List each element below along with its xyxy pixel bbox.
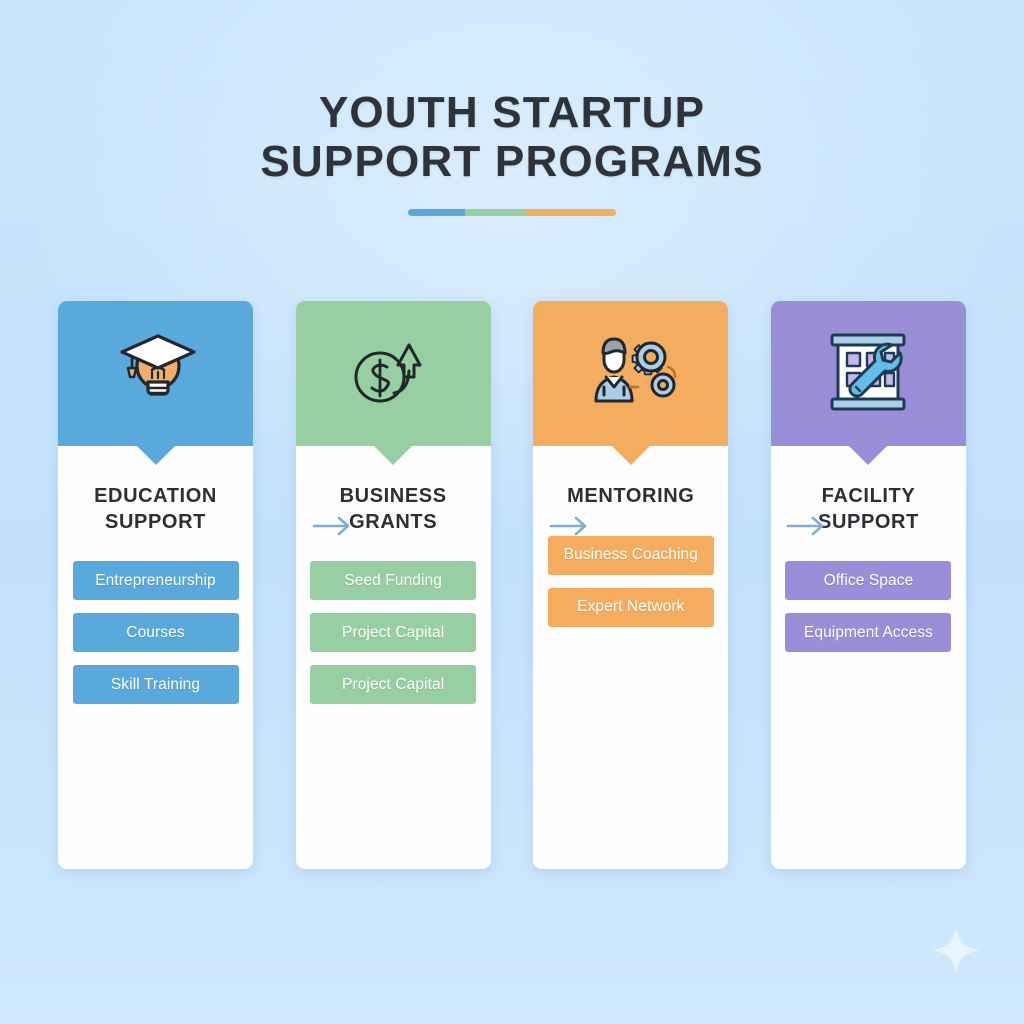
card-header-education-support [58,301,253,446]
program-card-mentoring[interactable]: MENTORING Business Coaching Expert Netwo… [533,301,728,869]
tag-skill-training[interactable]: Skill Training [73,665,239,704]
program-card-business-grants[interactable]: BUSINESS GRANTS Seed Funding Project Cap… [296,301,491,869]
building-wrench-icon [822,327,914,420]
card-wrapper-education-support: EDUCATION SUPPORT Entrepreneurship Cours… [58,301,253,869]
accent-segment-green [465,209,525,216]
connector-arrow-1 [312,513,354,539]
card-tags-mentoring: Business Coaching Expert Network [547,536,714,627]
program-card-education-support[interactable]: EDUCATION SUPPORT Entrepreneurship Cours… [58,301,253,869]
card-body-facility-support: FACILITY SUPPORT Office Space Equipment … [771,446,966,652]
accent-segment-blue [408,209,465,216]
connector-arrow-2 [549,513,591,539]
tag-business-coaching[interactable]: Business Coaching [548,536,714,575]
title-line-1: YOUTH STARTUP [0,88,1024,137]
card-title-mentoring: MENTORING [547,484,714,510]
card-header-mentoring [533,301,728,446]
card-body-business-grants: BUSINESS GRANTS Seed Funding Project Cap… [296,446,491,704]
person-gears-icon [582,331,680,416]
sparkle-icon [930,924,982,976]
program-card-facility-support[interactable]: FACILITY SUPPORT Office Space Equipment … [771,301,966,869]
card-tags-business-grants: Seed Funding Project Capital Project Cap… [310,561,477,704]
tag-courses[interactable]: Courses [73,613,239,652]
program-cards-row: EDUCATION SUPPORT Entrepreneurship Cours… [58,301,966,869]
card-title-education-support: EDUCATION SUPPORT [72,484,239,535]
tag-project-capital-1[interactable]: Project Capital [310,613,476,652]
graduation-cap-lightbulb-icon [110,330,202,417]
accent-segment-orange [525,209,616,216]
tag-office-space[interactable]: Office Space [785,561,951,600]
tag-seed-funding[interactable]: Seed Funding [310,561,476,600]
card-tags-facility-support: Office Space Equipment Access [785,561,952,652]
card-wrapper-facility-support: FACILITY SUPPORT Office Space Equipment … [771,301,966,869]
card-header-business-grants [296,301,491,446]
card-body-education-support: EDUCATION SUPPORT Entrepreneurship Cours… [58,446,253,704]
card-wrapper-business-grants: BUSINESS GRANTS Seed Funding Project Cap… [296,301,491,869]
tag-expert-network[interactable]: Expert Network [548,588,714,627]
connector-arrow-3 [786,513,828,539]
dollar-coin-growth-arrow-icon [346,329,440,418]
card-wrapper-mentoring: MENTORING Business Coaching Expert Netwo… [533,301,728,869]
title-line-2: SUPPORT PROGRAMS [0,137,1024,186]
tag-entrepreneurship[interactable]: Entrepreneurship [73,561,239,600]
card-tags-education-support: Entrepreneurship Courses Skill Training [72,561,239,704]
page-title: YOUTH STARTUP SUPPORT PROGRAMS [0,88,1024,216]
tag-project-capital-2[interactable]: Project Capital [310,665,476,704]
accent-bar [408,209,616,216]
tag-equipment-access[interactable]: Equipment Access [785,613,951,652]
card-header-facility-support [771,301,966,446]
